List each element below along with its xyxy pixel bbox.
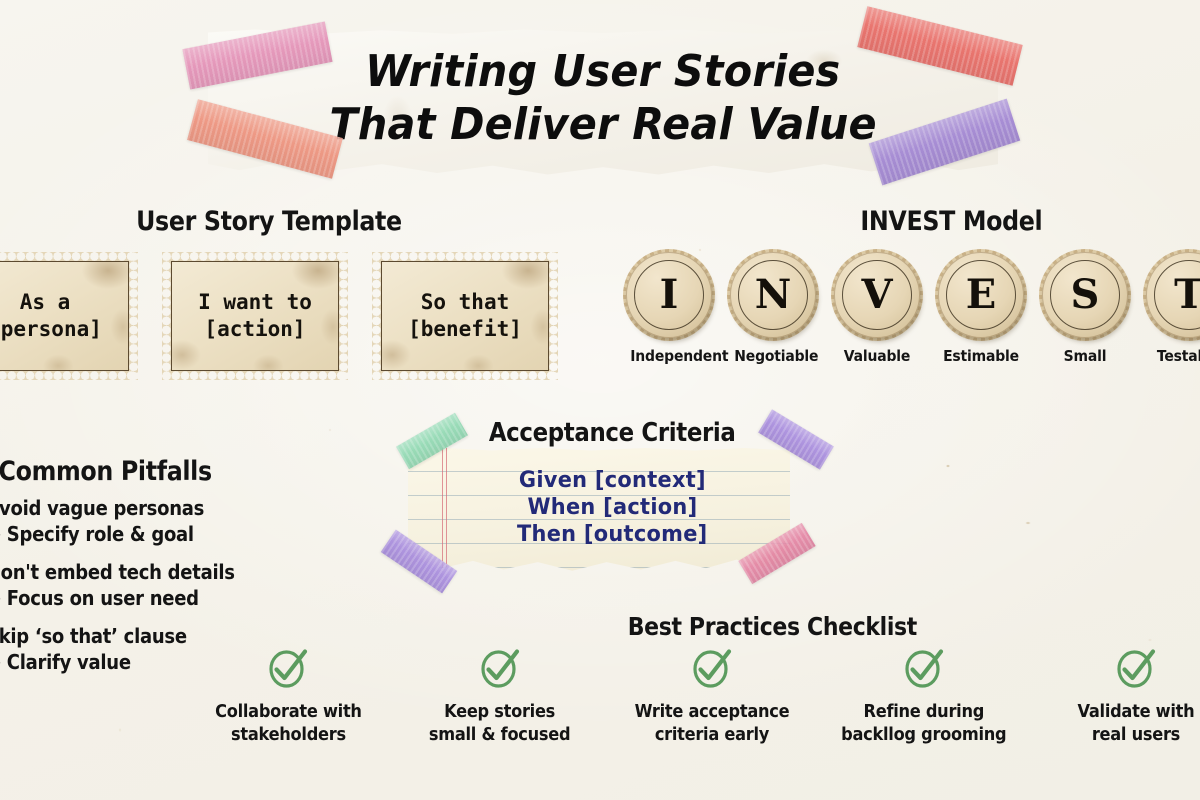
invest-label: Estimable bbox=[942, 347, 1019, 365]
checklist-item-keep-stories-small: Keep stories small & focused bbox=[394, 644, 606, 746]
invest-token-estimable: E Estimable bbox=[938, 252, 1024, 365]
stamp-card-line-2: [action] bbox=[204, 316, 305, 343]
acceptance-criteria-lines: Given [context] When [action] Then [outc… bbox=[408, 448, 790, 572]
invest-token-negotiable: N Negotiable bbox=[730, 252, 816, 365]
wooden-token-icon: E bbox=[938, 252, 1024, 338]
check-circle-icon bbox=[476, 644, 524, 692]
checklist-label-line-1: Refine during bbox=[864, 701, 985, 722]
invest-token-row: I Independent N Negotiable V Valuable E … bbox=[626, 252, 1200, 365]
checklist-label: Refine during backllog grooming bbox=[841, 700, 1006, 746]
criteria-line-then: Then [outcome] bbox=[517, 522, 707, 547]
section-heading-invest-model: INVEST Model bbox=[860, 206, 1042, 237]
stamp-card-line-1: As a bbox=[20, 289, 71, 316]
title-line-2: That Deliver Real Value bbox=[329, 99, 876, 150]
acceptance-criteria-notepad: Given [context] When [action] Then [outc… bbox=[408, 448, 790, 572]
best-practices-checklist-row: Collaborate with stakeholders Keep stori… bbox=[182, 644, 1200, 746]
pitfall-problem: Avoid vague personas bbox=[0, 496, 235, 520]
invest-letter: V bbox=[861, 275, 892, 315]
invest-letter: S bbox=[1071, 275, 1100, 315]
invest-token-testable: T Testable bbox=[1146, 252, 1200, 365]
stamp-card-persona: As a [persona] bbox=[0, 252, 138, 380]
check-circle-icon bbox=[264, 644, 312, 692]
wooden-token-icon: I bbox=[626, 252, 712, 338]
section-heading-acceptance-criteria: Acceptance Criteria bbox=[489, 418, 736, 448]
invest-letter: I bbox=[660, 275, 679, 315]
stamp-card-benefit: So that [benefit] bbox=[372, 252, 558, 380]
checklist-label: Keep stories small & focused bbox=[429, 700, 570, 746]
checklist-label-line-2: criteria early bbox=[655, 724, 769, 745]
user-story-template-card-row: As a [persona] I want to [action] So tha… bbox=[0, 252, 558, 380]
wooden-token-icon: S bbox=[1042, 252, 1128, 338]
checklist-item-collaborate: Collaborate with stakeholders bbox=[182, 644, 394, 746]
check-circle-icon bbox=[1112, 644, 1160, 692]
stamp-card-line-2: [persona] bbox=[0, 316, 102, 343]
stamp-card-line-2: [benefit] bbox=[408, 316, 522, 343]
wooden-token-icon: N bbox=[730, 252, 816, 338]
checklist-label-line-1: Keep stories bbox=[445, 701, 556, 722]
section-heading-user-story-template: User Story Template bbox=[136, 206, 402, 237]
pitfall-fix: → Specify role & goal bbox=[0, 522, 235, 546]
section-heading-best-practices: Best Practices Checklist bbox=[628, 612, 917, 641]
stamp-card-action: I want to [action] bbox=[162, 252, 348, 380]
invest-letter: T bbox=[1174, 275, 1200, 315]
invest-label: Testable bbox=[1150, 347, 1200, 365]
pitfall-problem: Don't embed tech details bbox=[0, 560, 235, 584]
checklist-label-line-2: backllog grooming bbox=[841, 724, 1006, 745]
checklist-label-line-1: Validate with bbox=[1078, 701, 1195, 722]
checklist-item-write-acceptance-criteria: Write acceptance criteria early bbox=[606, 644, 818, 746]
title-line-1: Writing User Stories bbox=[365, 46, 840, 97]
invest-letter: E bbox=[966, 275, 997, 315]
pitfall-fix: → Focus on user need bbox=[0, 586, 235, 610]
checklist-label: Collaborate with stakeholders bbox=[215, 700, 362, 746]
check-circle-icon bbox=[900, 644, 948, 692]
check-circle-icon bbox=[688, 644, 736, 692]
list-item: Don't embed tech details → Focus on user… bbox=[0, 560, 262, 610]
checklist-label-line-2: stakeholders bbox=[231, 724, 346, 745]
invest-token-independent: I Independent bbox=[626, 252, 712, 365]
section-heading-common-pitfalls: Common Pitfalls bbox=[0, 456, 212, 487]
list-item: Avoid vague personas → Specify role & go… bbox=[0, 496, 262, 546]
checklist-label-line-1: Write acceptance bbox=[635, 701, 790, 722]
stamp-card-line-1: I want to bbox=[198, 289, 312, 316]
invest-label: Small bbox=[1046, 347, 1123, 365]
criteria-line-given: Given [context] bbox=[519, 468, 706, 493]
checklist-label-line-1: Collaborate with bbox=[215, 701, 362, 722]
criteria-line-when: When [action] bbox=[527, 495, 697, 520]
checklist-item-validate-with-real-users: Validate with real users bbox=[1030, 644, 1200, 746]
checklist-label: Validate with real users bbox=[1078, 700, 1195, 746]
invest-letter: N bbox=[755, 275, 792, 315]
stamp-card-line-1: So that bbox=[421, 289, 510, 316]
checklist-item-refine-during-grooming: Refine during backllog grooming bbox=[818, 644, 1030, 746]
checklist-label: Write acceptance criteria early bbox=[635, 700, 790, 746]
wooden-token-icon: V bbox=[834, 252, 920, 338]
invest-label: Independent bbox=[630, 347, 707, 365]
wooden-token-icon: T bbox=[1146, 252, 1200, 338]
checklist-label-line-2: real users bbox=[1092, 724, 1180, 745]
invest-label: Negotiable bbox=[734, 347, 811, 365]
invest-token-valuable: V Valuable bbox=[834, 252, 920, 365]
checklist-label-line-2: small & focused bbox=[429, 724, 570, 745]
invest-token-small: S Small bbox=[1042, 252, 1128, 365]
invest-label: Valuable bbox=[838, 347, 915, 365]
